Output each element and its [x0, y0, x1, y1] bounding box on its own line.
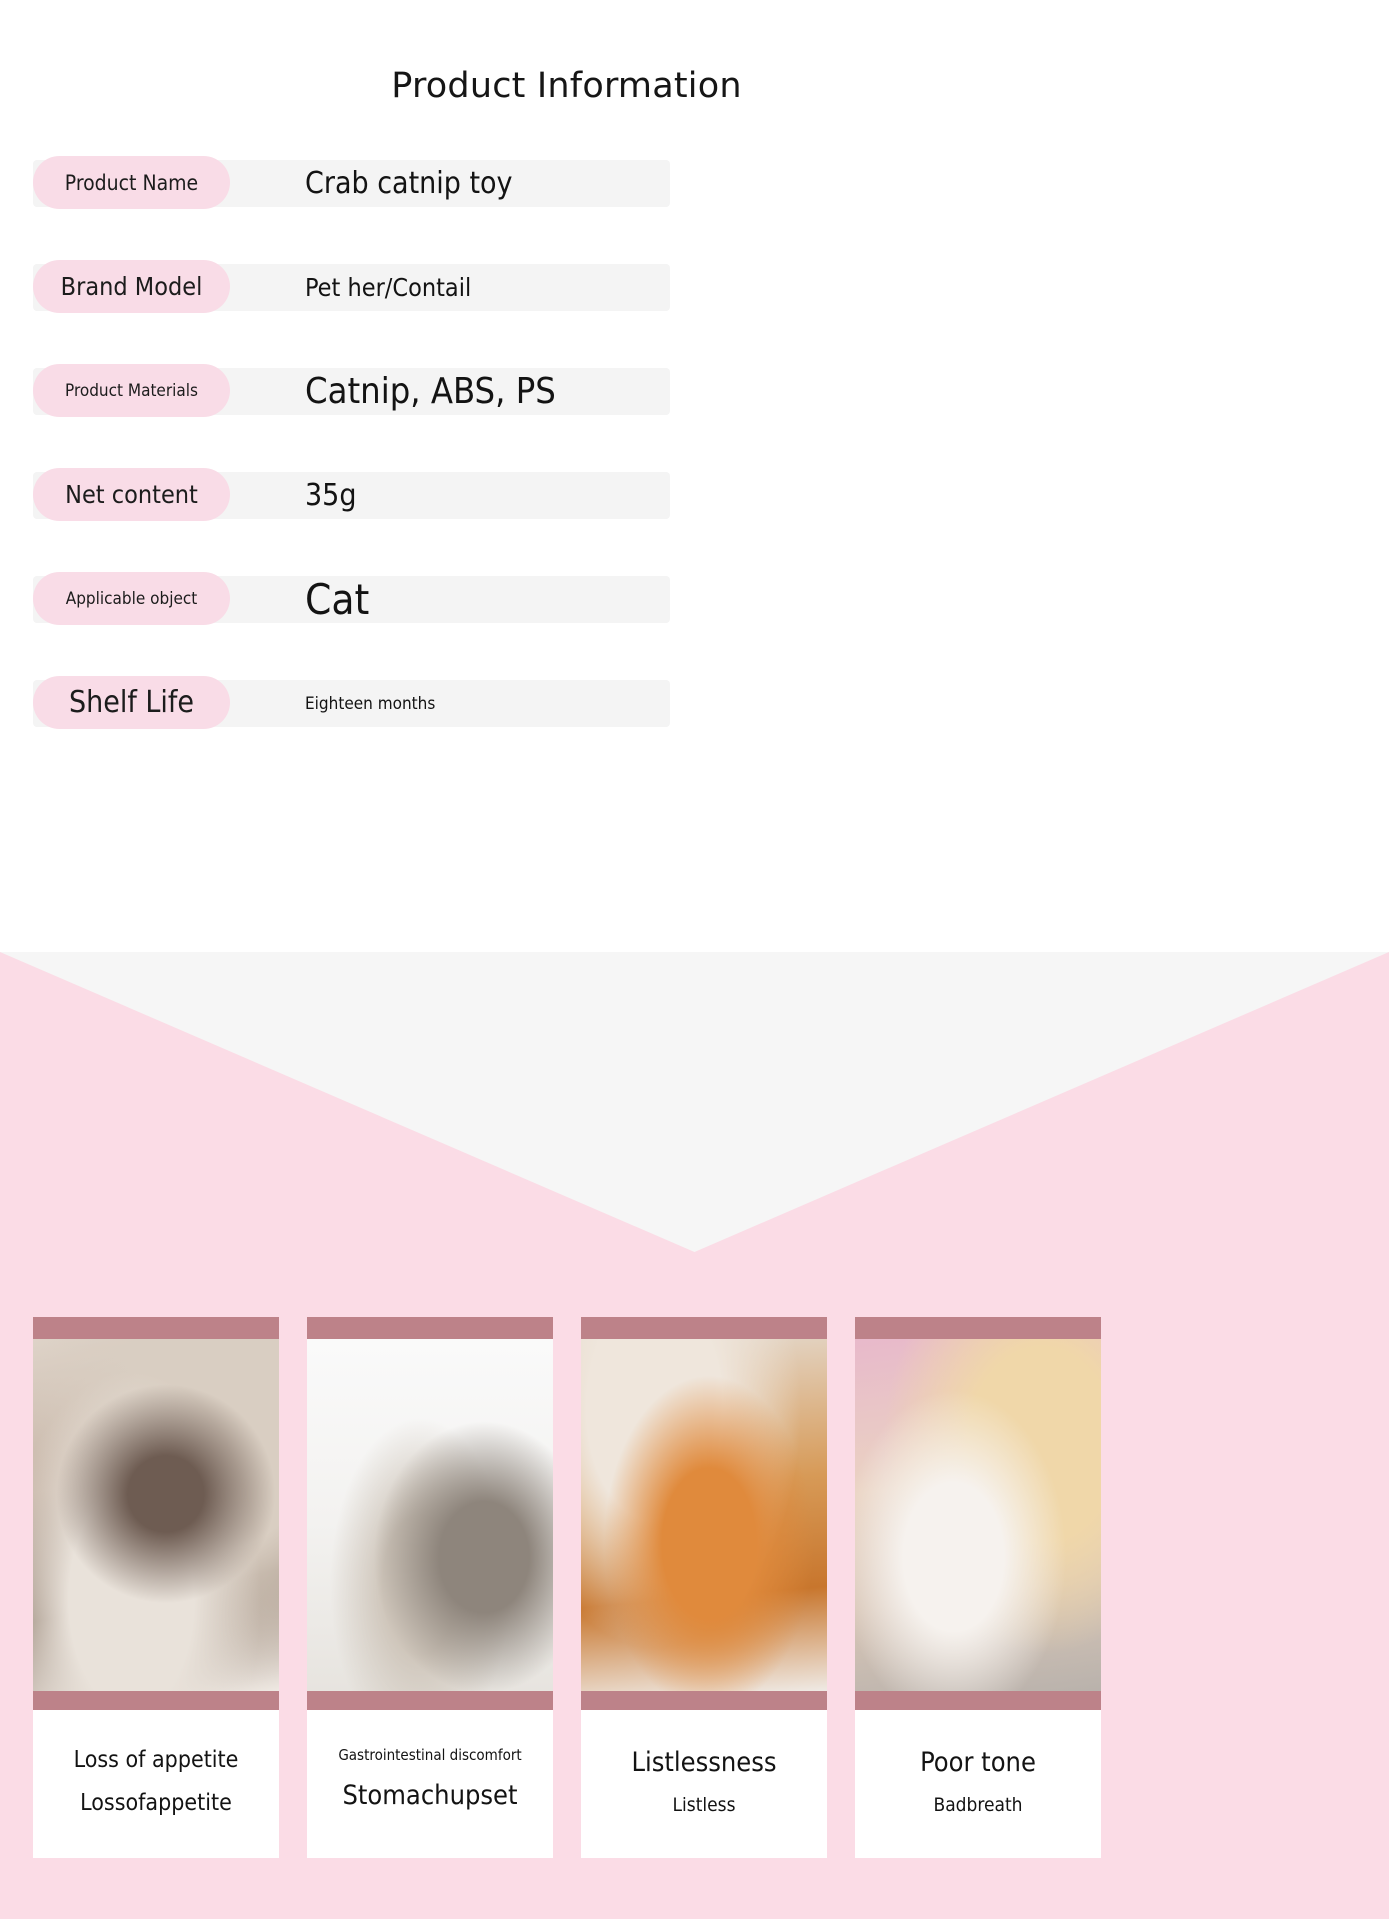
trouble-card[interactable]: Poor tone Badbreath: [855, 1317, 1101, 1858]
card-bottom-accent-bar: [855, 1691, 1101, 1710]
orange-cat-lying-down-tired-photo: [581, 1339, 827, 1691]
product-information-section: Product Information Product Name Crab ca…: [0, 0, 1389, 952]
page-title: Product Information: [0, 66, 1389, 106]
troubles-subtitle: THE TROUBLESOFCATS: [0, 952, 1389, 953]
card-subtitle: Listless: [587, 1794, 821, 1818]
card-bottom-accent-bar: [581, 1691, 827, 1710]
spec-row: Product Name Crab catnip toy: [0, 160, 760, 216]
card-top-accent-bar: [307, 1317, 553, 1339]
spec-row: Shelf Life Eighteen months: [0, 680, 760, 736]
card-title: Listlessness: [587, 1746, 821, 1780]
spec-row: Applicable object Cat: [0, 576, 760, 632]
trouble-card[interactable]: Loss of appetite Lossofappetite: [33, 1317, 279, 1858]
spec-row: Net content 35g: [0, 472, 760, 528]
card-subtitle: Stomachupset: [313, 1779, 547, 1813]
spec-row: Product Materials Catnip, ABS, PS: [0, 368, 760, 424]
spec-label-brand-model: Brand Model: [33, 260, 230, 313]
card-title: Gastrointestinal discomfort: [313, 1746, 547, 1765]
card-subtitle: Badbreath: [861, 1794, 1095, 1818]
spec-value-net-content: 35g: [305, 472, 356, 519]
trouble-card[interactable]: Gastrointestinal discomfort Stomachupset: [307, 1317, 553, 1858]
spec-value-applicable-object: Cat: [305, 576, 369, 623]
spec-label-shelf-life: Shelf Life: [33, 676, 230, 729]
spec-label-product-materials: Product Materials: [33, 364, 230, 417]
troubles-heading: Cat's troubles THE TROUBLESOFCATS: [0, 952, 1389, 953]
spec-table: Product Name Crab catnip toy Brand Model…: [0, 160, 760, 784]
card-top-accent-bar: [581, 1317, 827, 1339]
cat-vomiting-on-white-background-photo: [307, 1339, 553, 1691]
card-bottom-accent-bar: [307, 1691, 553, 1710]
card-caption: Gastrointestinal discomfort Stomachupset: [307, 1710, 553, 1853]
card-caption: Loss of appetite Lossofappetite: [33, 1710, 279, 1858]
card-subtitle: Lossofappetite: [39, 1789, 273, 1818]
spec-value-product-materials: Catnip, ABS, PS: [305, 368, 556, 415]
spec-label-net-content: Net content: [33, 468, 230, 521]
spec-label-applicable-object: Applicable object: [33, 572, 230, 625]
spec-row: Brand Model Pet her/Contail: [0, 264, 760, 320]
spec-value-brand-model: Pet her/Contail: [305, 264, 471, 311]
page-title-text: Product Information: [391, 66, 741, 106]
hand-opening-white-cat-mouth-photo: [855, 1339, 1101, 1691]
white-chevron-wedge: [0, 952, 1389, 1252]
card-caption: Listlessness Listless: [581, 1710, 827, 1858]
cat-looking-away-from-food-bowl-photo: [33, 1339, 279, 1691]
spec-value-product-name: Crab catnip toy: [305, 160, 513, 207]
spec-label-product-name: Product Name: [33, 156, 230, 209]
card-title: Poor tone: [861, 1746, 1095, 1780]
card-top-accent-bar: [855, 1317, 1101, 1339]
card-top-accent-bar: [33, 1317, 279, 1339]
spec-value-shelf-life: Eighteen months: [305, 680, 435, 727]
trouble-card[interactable]: Listlessness Listless: [581, 1317, 827, 1858]
card-bottom-accent-bar: [33, 1691, 279, 1710]
card-title: Loss of appetite: [39, 1746, 273, 1775]
card-caption: Poor tone Badbreath: [855, 1710, 1101, 1858]
trouble-card-list: Loss of appetite Lossofappetite Gastroin…: [33, 1317, 1389, 1858]
